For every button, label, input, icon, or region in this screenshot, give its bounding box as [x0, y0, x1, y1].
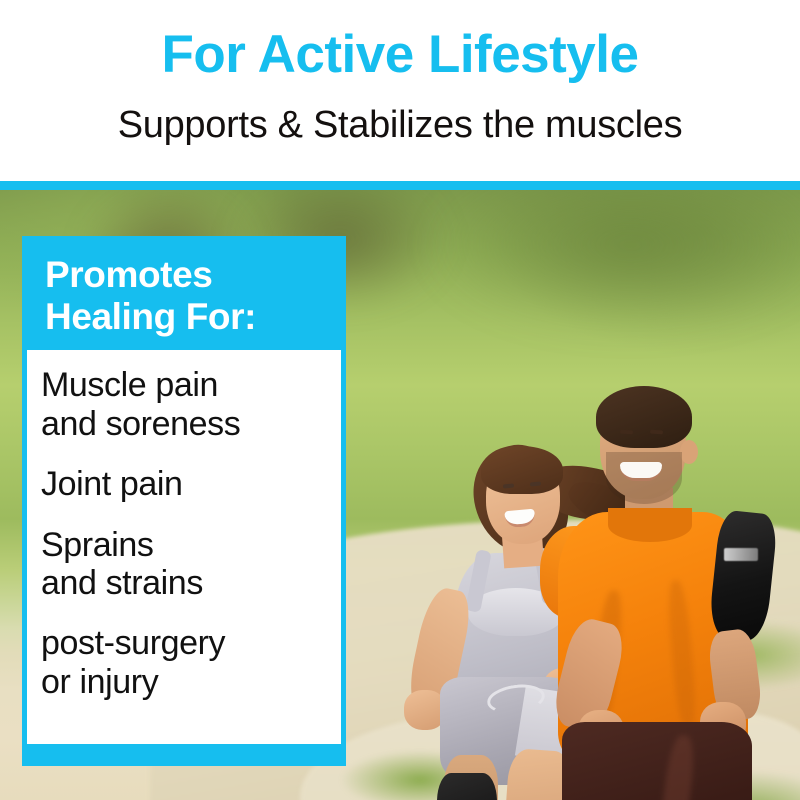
benefits-panel: Promotes Healing For: Muscle painand sor… [22, 236, 346, 766]
benefit-item: post-surgeryor injury [41, 624, 325, 701]
header-banner: For Active Lifestyle Supports & Stabiliz… [0, 0, 800, 181]
woman-hair [481, 446, 563, 494]
benefit-item: Joint pain [41, 465, 325, 503]
benefits-panel-header: Promotes Healing For: [27, 236, 341, 350]
brand-logo-icon [724, 548, 758, 561]
accent-divider [0, 181, 800, 190]
man-hair [596, 386, 692, 448]
knee-compression-sleeve [437, 773, 497, 800]
background-foliage [430, 190, 800, 330]
benefit-item: Muscle painand soreness [41, 366, 325, 443]
man-shorts [562, 722, 752, 800]
page-subtitle: Supports & Stabilizes the muscles [0, 104, 800, 148]
man-ear [680, 440, 698, 464]
man-eye-left [620, 430, 633, 435]
benefit-item: Sprainsand strains [41, 526, 325, 603]
benefits-panel-title: Promotes Healing For: [45, 254, 323, 338]
page-title: For Active Lifestyle [0, 27, 800, 83]
benefits-list: Muscle painand soreness Joint pain Sprai… [27, 350, 341, 744]
product-marketing-image: For Active Lifestyle Supports & Stabiliz… [0, 0, 800, 800]
man-shirt-collar [608, 508, 692, 542]
man-eye-right [650, 430, 663, 435]
